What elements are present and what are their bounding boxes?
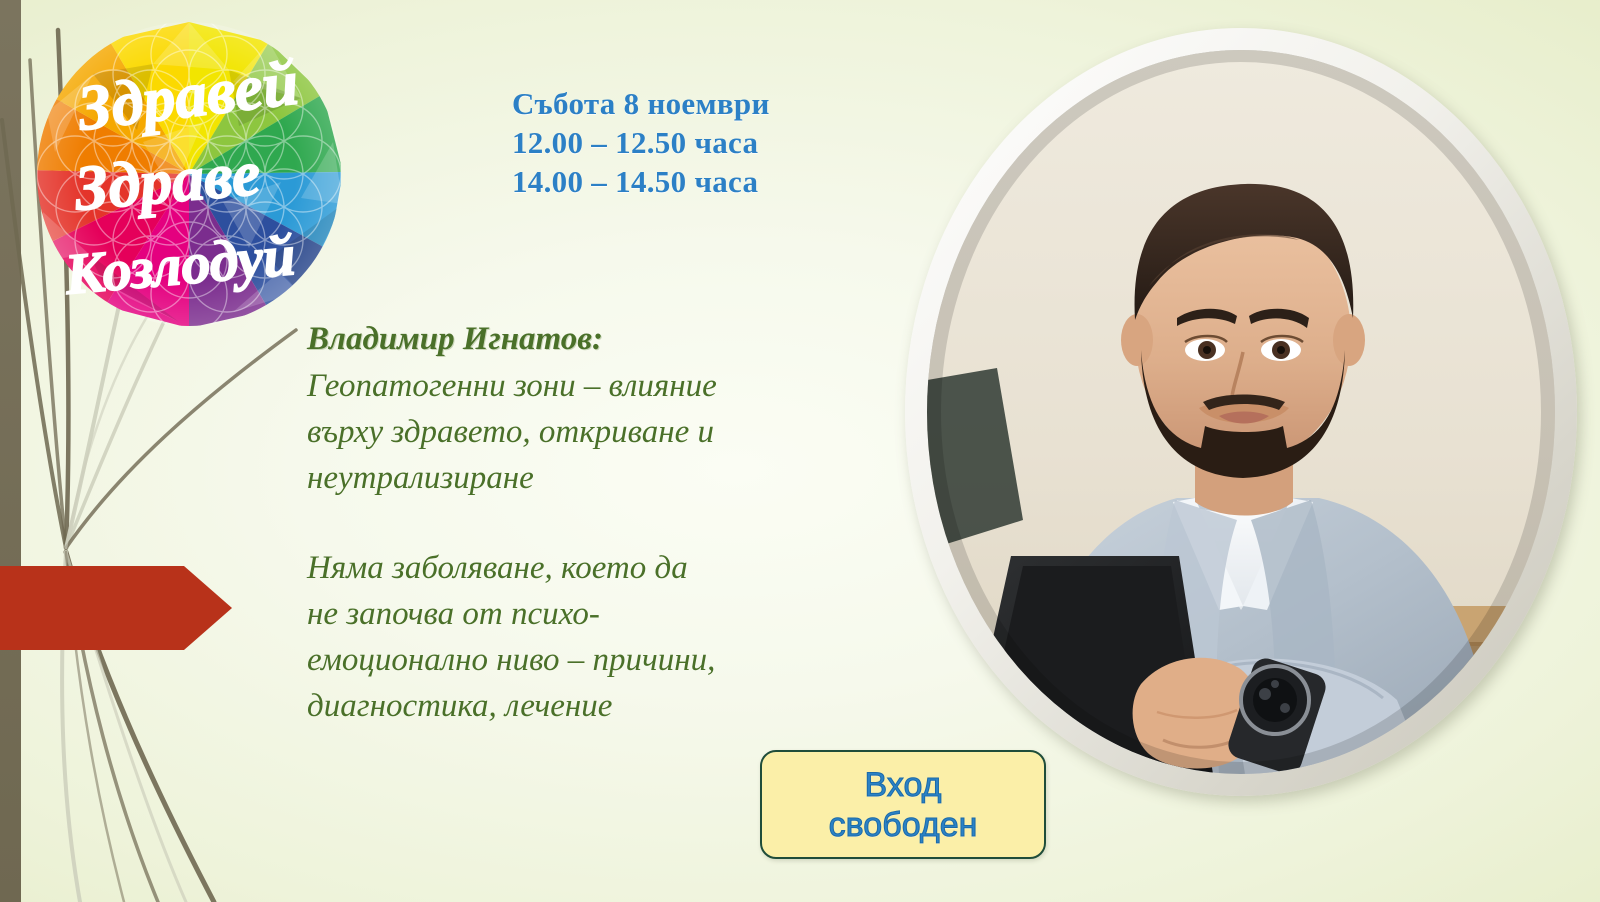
schedule-block: Събота 8 ноември 12.00 – 12.50 часа 14.0… bbox=[512, 84, 932, 201]
topic-line-3: неутрализиране bbox=[307, 455, 867, 501]
topic2-line-3: емоционално ниво – причини, bbox=[307, 637, 867, 683]
topic2-line-1: Няма заболяване, което да bbox=[307, 545, 867, 591]
portrait-photo bbox=[927, 50, 1555, 774]
schedule-date: Събота 8 ноември bbox=[512, 84, 932, 123]
speaker-portrait bbox=[905, 28, 1577, 796]
logo-circle-icon: Здравей Здраве Козлодуй bbox=[33, 22, 345, 326]
logo-zdravey-zdrave-kozloduy: Здравей Здраве Козлодуй bbox=[33, 22, 345, 326]
portrait-illustration bbox=[927, 50, 1555, 774]
paragraph-gap bbox=[307, 501, 867, 545]
topic2-line-2: не започва от психо- bbox=[307, 591, 867, 637]
presentation-slide: Здравей Здраве Козлодуй Събота 8 ноември… bbox=[0, 0, 1600, 902]
talk-description: Владимир Игнатов: Геопатогенни зони – вл… bbox=[307, 316, 867, 729]
topic2-line-4: диагностика, лечение bbox=[307, 683, 867, 729]
speaker-name: Владимир Игнатов: bbox=[307, 316, 867, 362]
topic-line-1: Геопатогенни зони – влияние bbox=[307, 363, 867, 409]
schedule-time-2: 14.00 – 14.50 часа bbox=[512, 162, 932, 201]
topic-line-2: върху здравето, откриване и bbox=[307, 409, 867, 455]
red-arrow-banner bbox=[0, 564, 232, 652]
free-entry-line-2: свободен bbox=[829, 805, 978, 845]
schedule-time-1: 12.00 – 12.50 часа bbox=[512, 123, 932, 162]
